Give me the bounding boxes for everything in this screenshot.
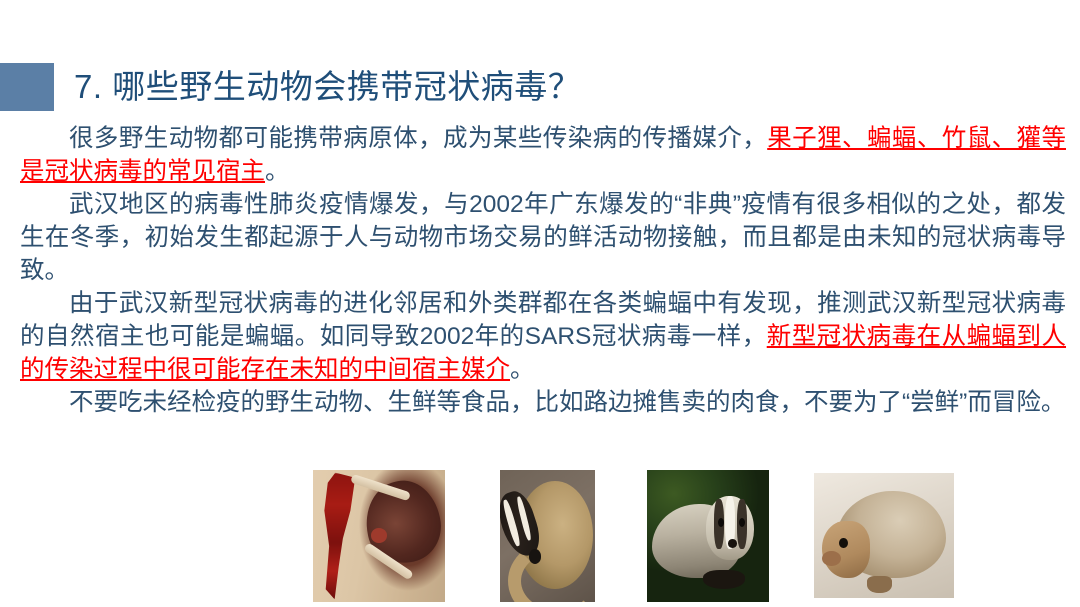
p2-run-0: 武汉地区的病毒性肺炎疫情爆发，与2002年广东爆发的“非典”疫情有很多相似的之处…: [20, 191, 1066, 284]
p1-run-2: 。: [265, 158, 290, 185]
paragraph-4: 不要吃未经检疫的野生动物、生鲜等食品，比如路边摊售卖的肉食，不要为了“尝鲜”而冒…: [20, 386, 1066, 419]
body-text-block: 很多野生动物都可能携带病原体，成为某些传染病的传播媒介，果子狸、蝙蝠、竹鼠、獾等…: [20, 122, 1066, 419]
bamboo-rat-snout-shape: [822, 551, 840, 566]
civet-nose-shape: [529, 549, 541, 564]
p1-run-0: 很多野生动物都可能携带病原体，成为某些传染病的传播媒介，: [69, 125, 767, 152]
p3-run-2: 。: [510, 356, 535, 383]
paragraph-2: 武汉地区的病毒性肺炎疫情爆发，与2002年广东爆发的“非典”疫情有很多相似的之处…: [20, 188, 1066, 287]
badger-photo: [647, 470, 769, 602]
page-title: 7. 哪些野生动物会携带冠状病毒？: [74, 69, 581, 105]
title-accent-marker: [0, 63, 54, 111]
animal-photo-strip: [313, 470, 1058, 602]
slide-title-row: 7. 哪些野生动物会携带冠状病毒？: [0, 60, 1080, 114]
badger-eye-right: [739, 518, 745, 527]
badger-eye-left: [718, 518, 724, 527]
bat-snout-shape: [371, 528, 387, 543]
p4-run-0: 不要吃未经检疫的野生动物、生鲜等食品，比如路边摊售卖的肉食，不要为了“尝鲜”而冒…: [69, 389, 1065, 416]
palm-civet-photo: [500, 470, 595, 602]
slide-root: 7. 哪些野生动物会携带冠状病毒？ 很多野生动物都可能携带病原体，成为某些传染病…: [0, 0, 1080, 607]
badger-paws-shape: [703, 570, 744, 588]
bamboo-rat-foot-shape: [867, 576, 892, 594]
bamboo-rat-photo: [814, 473, 954, 598]
bat-photo: [313, 470, 445, 602]
paragraph-1: 很多野生动物都可能携带病原体，成为某些传染病的传播媒介，果子狸、蝙蝠、竹鼠、獾等…: [20, 122, 1066, 188]
bamboo-rat-eye: [839, 538, 847, 548]
bamboo-rat-head-shape: [822, 521, 870, 579]
paragraph-3: 由于武汉新型冠状病毒的进化邻居和外类群都在各类蝙蝠中有发现，推测武汉新型冠状病毒…: [20, 287, 1066, 386]
badger-nose-shape: [728, 539, 738, 548]
